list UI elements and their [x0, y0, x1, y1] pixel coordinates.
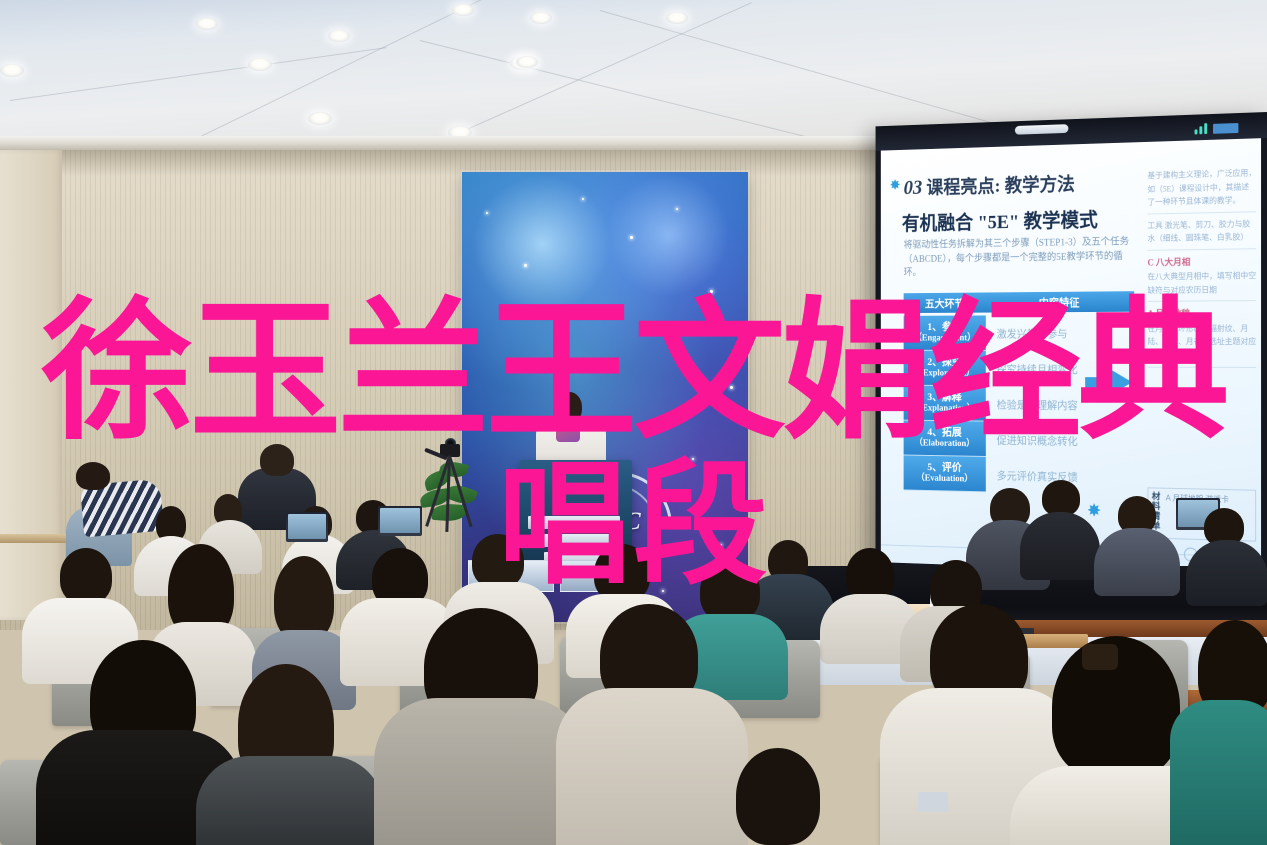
right-column-head: C 八大月相: [1147, 254, 1256, 271]
downlight: [516, 56, 538, 68]
sparkle-icon: ✸: [890, 178, 901, 192]
screenshot-root: NAOC 天文馆: [0, 0, 1267, 845]
slide-title: 03 课程亮点: 教学方法: [904, 169, 1075, 199]
right-column-block: 工具 激光笔、剪刀、胶力与胶水（细线、圆珠笔、白乳胶）: [1147, 217, 1256, 251]
overlay-title-line-2: 唱段: [0, 458, 1267, 592]
slide-title-text: 课程亮点: 教学方法: [926, 174, 1074, 198]
audience-hair: [736, 748, 820, 845]
downlight: [196, 18, 218, 30]
slide-subtitle: 有机融合 "5E" 教学模式: [902, 204, 1098, 236]
downlight: [248, 58, 272, 71]
right-column-block: 基于建构主义理论，广泛应用，如（5E）课程设计中，其描述了一种环节且体课的教学。: [1147, 166, 1256, 214]
right-column-body: 工具 激光笔、剪刀、胶力与胶水（细线、圆珠笔、白乳胶）: [1147, 217, 1256, 246]
downlight: [530, 12, 552, 24]
mobile-phone: [918, 792, 948, 812]
downlight: [666, 12, 688, 24]
downlight: [0, 64, 24, 77]
signal-indicator-icon: [1195, 119, 1256, 134]
downlight: [328, 30, 350, 42]
overlay-title-line-1: 徐玉兰王文娟经典: [0, 296, 1267, 448]
ceiling-strip-light: [1015, 124, 1068, 135]
downlight: [452, 4, 474, 16]
audience-body: [556, 688, 748, 845]
audience-body: [196, 756, 384, 845]
slide-title-number: 03: [904, 176, 923, 199]
audience-body: [1170, 700, 1267, 845]
hair-bun: [1082, 644, 1118, 670]
downlight: [308, 112, 332, 125]
slide-note: 将驱动性任务拆解为其三个步骤（STEP1-3）及五个任务（ABCDE），每个步骤…: [904, 235, 1133, 280]
right-column-body: 基于建构主义理论，广泛应用，如（5E）课程设计中，其描述了一种环节且体课的教学。: [1147, 166, 1256, 209]
